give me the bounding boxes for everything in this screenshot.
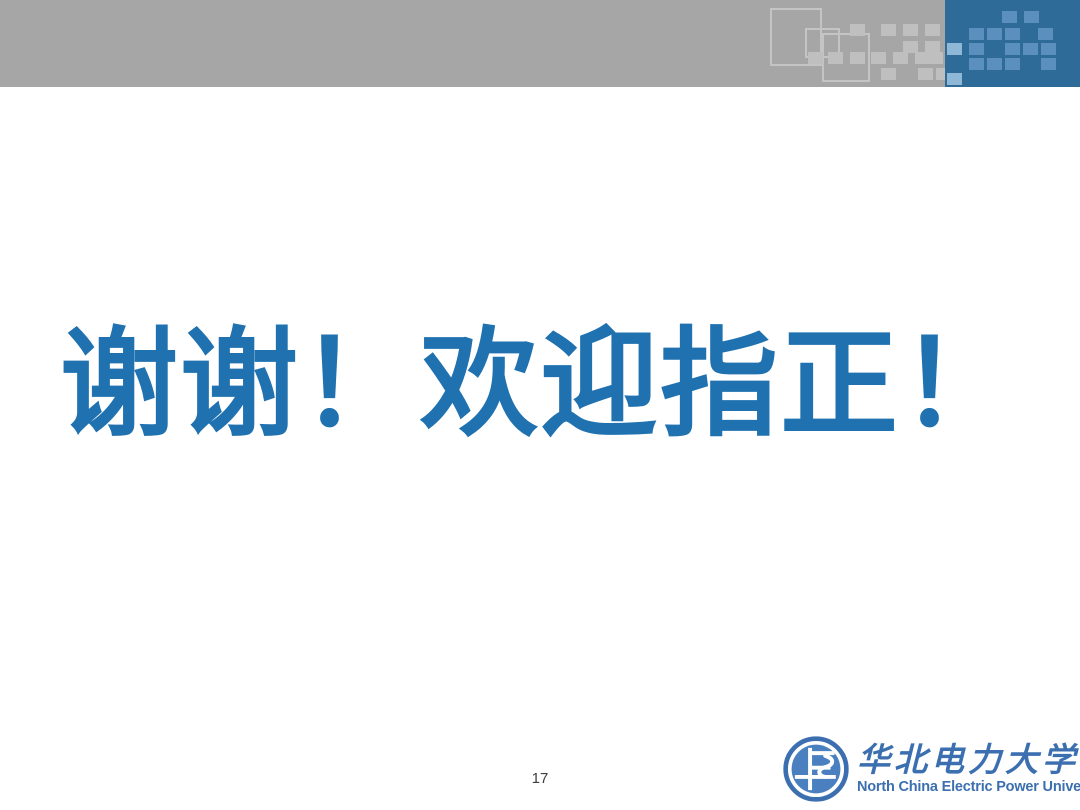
page-title: 谢谢！欢迎指正！: [60, 323, 1020, 447]
mosaic-square-icon: [881, 68, 896, 80]
mosaic-square-icon: [1024, 11, 1039, 23]
mosaic-square-icon: [871, 52, 886, 64]
mosaic-square-icon: [969, 58, 984, 70]
university-logo: 华北电力大学 North China Electric Power Univer…: [783, 733, 1078, 805]
mosaic-square-icon: [1038, 28, 1053, 40]
mosaic-square-icon: [881, 24, 896, 36]
mosaic-square-icon: [893, 52, 908, 64]
mosaic-square-icon: [947, 43, 962, 55]
mosaic-square-icon: [947, 73, 962, 85]
mosaic-square-icon: [850, 52, 865, 64]
logo-text-group: 华北电力大学 North China Electric Power Univer…: [857, 742, 1080, 795]
mosaic-square-icon: [1041, 58, 1056, 70]
mosaic-square-icon: [925, 24, 940, 36]
ncepu-circular-emblem-icon: [783, 736, 849, 802]
mosaic-square-icon: [850, 24, 865, 36]
mosaic-square-icon: [918, 68, 933, 80]
mosaic-square-icon: [1002, 11, 1017, 23]
mosaic-square-icon: [903, 24, 918, 36]
mosaic-square-icon: [987, 28, 1002, 40]
mosaic-square-icon: [828, 52, 843, 64]
mosaic-square-icon: [808, 52, 823, 64]
mosaic-square-icon: [969, 43, 984, 55]
mosaic-square-icon: [1041, 43, 1056, 55]
mosaic-square-icon: [969, 28, 984, 40]
mosaic-square-icon: [987, 58, 1002, 70]
mosaic-square-icon: [1005, 58, 1020, 70]
mosaic-square-icon: [1005, 28, 1020, 40]
header-band: [0, 0, 1080, 87]
slide-canvas: 谢谢！欢迎指正！ 17 华北电力大学 North China Electric …: [0, 0, 1080, 810]
logo-chinese-name: 华北电力大学: [857, 742, 1080, 778]
header-accent-block: [945, 0, 1080, 87]
mosaic-square-icon: [928, 52, 943, 64]
title-zone: 谢谢！欢迎指正！: [0, 300, 1080, 470]
logo-english-name: North China Electric Power University: [857, 780, 1080, 796]
mosaic-square-icon: [1005, 43, 1020, 55]
mosaic-square-icon: [1023, 43, 1038, 55]
